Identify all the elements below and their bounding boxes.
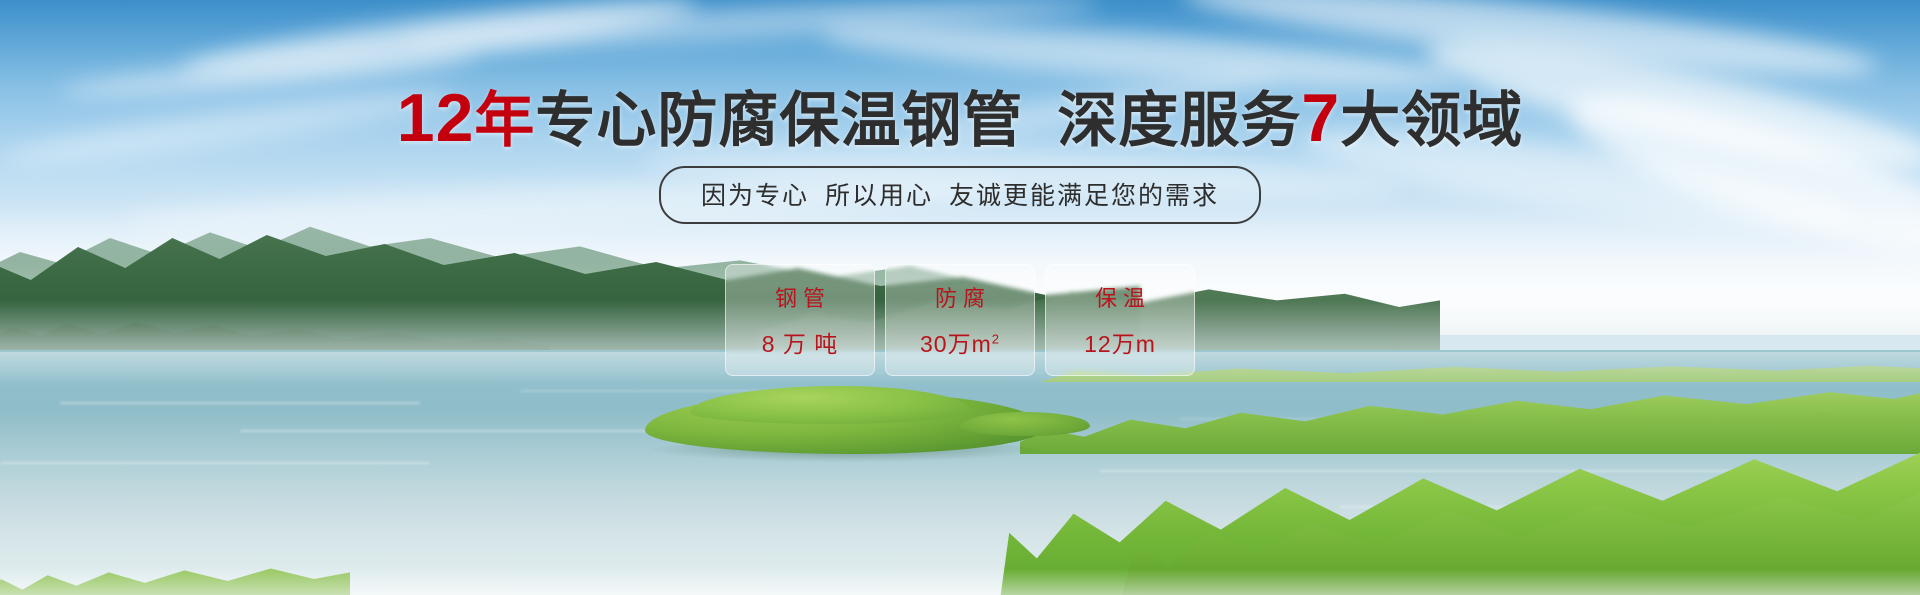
tagline-part-3: 友诚更能满足您的需求 xyxy=(949,182,1219,210)
headline-years-unit: 年 xyxy=(474,87,535,154)
stat-card-list: 钢管 8 万 吨 防腐 30万m2 保温 12万m xyxy=(0,264,1920,376)
tagline-part-2: 所以用心 xyxy=(825,182,933,210)
headline-fields-number: 7 xyxy=(1301,80,1340,156)
banner-content: 12年专心防腐保温钢管深度服务7大领域 因为专心所以用心友诚更能满足您的需求 钢… xyxy=(0,0,1920,595)
stat-card-steel-pipe[interactable]: 钢管 8 万 吨 xyxy=(725,264,875,376)
headline-years-number: 12 xyxy=(397,80,475,156)
tagline-part-1: 因为专心 xyxy=(701,182,809,210)
stat-card-label: 保温 xyxy=(1089,281,1151,313)
stat-card-label: 防腐 xyxy=(929,281,991,313)
stat-card-value-main: 8 万 吨 xyxy=(762,331,839,357)
stat-card-value-superscript: 2 xyxy=(992,331,1000,346)
stat-card-label: 钢管 xyxy=(769,281,831,313)
stat-card-value: 8 万 吨 xyxy=(762,325,839,359)
stat-card-insulation[interactable]: 保温 12万m xyxy=(1045,264,1195,376)
headline-main-text: 专心防腐保温钢管 xyxy=(535,87,1023,154)
stat-card-value-main: 12万m xyxy=(1084,331,1156,357)
stat-card-value: 12万m xyxy=(1084,325,1156,359)
stat-card-value-main: 30万m xyxy=(920,331,992,357)
banner-headline: 12年专心防腐保温钢管深度服务7大领域 xyxy=(0,84,1920,152)
stat-card-value: 30万m2 xyxy=(920,325,1000,359)
stat-card-anticorrosion[interactable]: 防腐 30万m2 xyxy=(885,264,1035,376)
headline-second-text: 深度服务 xyxy=(1057,87,1301,154)
headline-tail-text: 大领域 xyxy=(1340,87,1523,154)
hero-banner: 12年专心防腐保温钢管深度服务7大领域 因为专心所以用心友诚更能满足您的需求 钢… xyxy=(0,0,1920,595)
banner-tagline-pill: 因为专心所以用心友诚更能满足您的需求 xyxy=(659,166,1261,224)
banner-tagline-wrap: 因为专心所以用心友诚更能满足您的需求 xyxy=(0,166,1920,224)
